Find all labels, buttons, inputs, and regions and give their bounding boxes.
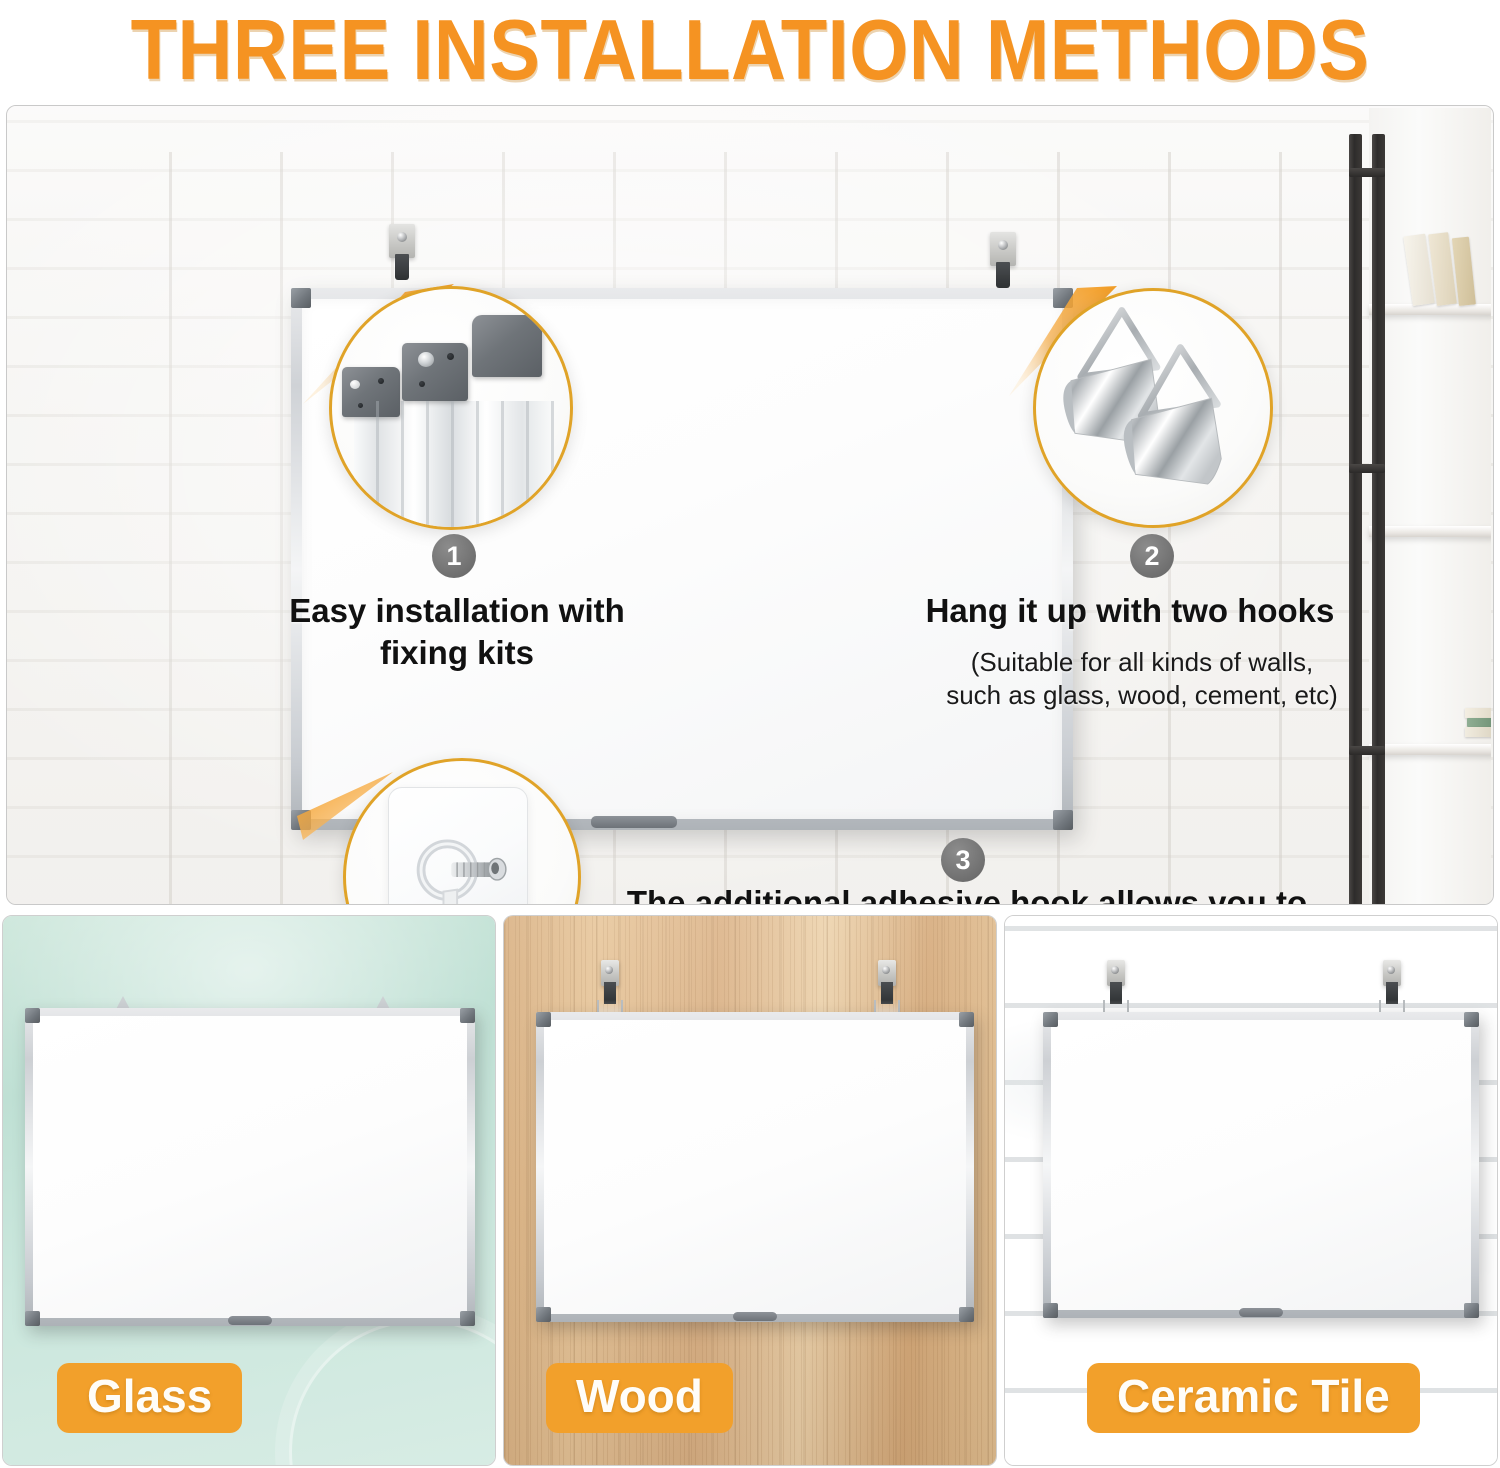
hero-scene-panel: 1 Easy installation with fixing kits 2 H…	[6, 105, 1494, 905]
shelf-board-bottom	[1369, 744, 1491, 755]
bracket-hole	[350, 380, 360, 389]
hooks-illustration	[1036, 291, 1270, 525]
shelf-board-top	[1369, 304, 1491, 315]
surface-panel-wood: Wood	[503, 915, 997, 1466]
whiteboard-writing-surface	[1051, 1020, 1471, 1310]
whiteboard-on-tile	[1043, 1012, 1479, 1318]
whiteboard-corner-cap	[1053, 810, 1073, 830]
whiteboard-on-wood	[536, 1012, 974, 1322]
surface-examples-row: Glass Wood	[0, 915, 1500, 1468]
callout-1-headline-line1: Easy installation with	[237, 592, 677, 631]
whiteboard-pen-tray	[591, 816, 677, 828]
whiteboard-corner-cap	[460, 1311, 475, 1326]
step-badge-2: 2	[1130, 534, 1174, 578]
whiteboard-on-glass	[25, 1008, 475, 1326]
screw-icon	[1111, 966, 1119, 974]
page-title-bar: THREE INSTALLATION METHODS	[0, 0, 1500, 100]
ladder-rung	[1349, 168, 1385, 177]
fixing-bracket-medium	[402, 343, 468, 401]
adhesive-hook-illustration	[346, 761, 578, 905]
bracket-hole	[447, 353, 454, 360]
whiteboard-pen-tray	[228, 1316, 272, 1325]
surface-panel-glass: Glass	[2, 915, 496, 1466]
book-item	[1465, 708, 1491, 718]
callout-2-subtext-line2: such as glass, wood, cement, etc)	[897, 680, 1387, 711]
whiteboard-corner-cap	[1464, 1012, 1479, 1027]
step-badge-1: 1	[432, 534, 476, 578]
whiteboard-corner-cap	[25, 1008, 40, 1023]
whiteboard-corner-cap	[1043, 1303, 1058, 1318]
whiteboard-corner-cap	[1043, 1012, 1058, 1027]
whiteboard-pen-tray	[1239, 1308, 1283, 1317]
callout-1-headline-line2: fixing kits	[237, 634, 677, 673]
magnifier-adhesive-hook	[343, 758, 581, 905]
whiteboard-corner-cap	[1464, 1303, 1479, 1318]
whiteboard-pen-tray	[733, 1312, 777, 1321]
surface-panel-ceramic-tile: Ceramic Tile	[1004, 915, 1498, 1466]
book-item	[1467, 718, 1491, 727]
bracket-hole	[378, 378, 384, 384]
whiteboard-writing-surface	[33, 1016, 467, 1318]
page-title: THREE INSTALLATION METHODS	[131, 1, 1370, 98]
ladder-rung	[1349, 464, 1385, 473]
shelf-backing	[1369, 108, 1491, 904]
bracket-hole	[419, 381, 425, 387]
ladder-rail-right	[1372, 134, 1385, 904]
bookshelf-ladder-decor	[1341, 108, 1491, 904]
screw-icon	[998, 240, 1008, 250]
whiteboard-corner-cap	[959, 1307, 974, 1322]
fixing-bracket-large	[472, 315, 542, 377]
magnifier-fixing-kits	[329, 286, 573, 530]
surface-label-glass: Glass	[57, 1363, 242, 1433]
wall-mount-clip-left	[389, 224, 415, 280]
whiteboard-writing-surface	[544, 1020, 966, 1314]
rail-grooves	[354, 401, 554, 530]
ladder-rung	[1349, 746, 1385, 755]
surface-label-ceramic-tile: Ceramic Tile	[1087, 1363, 1420, 1433]
whiteboard-corner-cap	[460, 1008, 475, 1023]
screw-icon	[605, 966, 613, 974]
book-item	[1465, 727, 1491, 737]
ladder-rail-left	[1349, 134, 1362, 904]
screw-icon	[397, 232, 407, 242]
shelf-board-middle	[1369, 526, 1491, 537]
clip-tab	[395, 254, 409, 280]
whiteboard-corner-cap	[536, 1307, 551, 1322]
callout-2-subtext-line1: (Suitable for all kinds of walls,	[897, 647, 1387, 678]
bracket-screw-hole	[418, 352, 434, 367]
decorative-ladder	[1349, 134, 1385, 904]
whiteboard-corner-cap	[536, 1012, 551, 1027]
whiteboard-corner-cap	[25, 1311, 40, 1326]
screw-icon	[882, 966, 890, 974]
surface-label-wood: Wood	[546, 1363, 733, 1433]
callout-2-headline: Hang it up with two hooks	[875, 592, 1385, 631]
whiteboard-corner-cap	[959, 1012, 974, 1027]
screw-icon	[1387, 966, 1395, 974]
callout-3-headline-line1: The additional adhesive hook allows you …	[587, 884, 1347, 905]
magnifier-hanging-hooks	[1033, 288, 1273, 528]
step-badge-3: 3	[941, 838, 985, 882]
